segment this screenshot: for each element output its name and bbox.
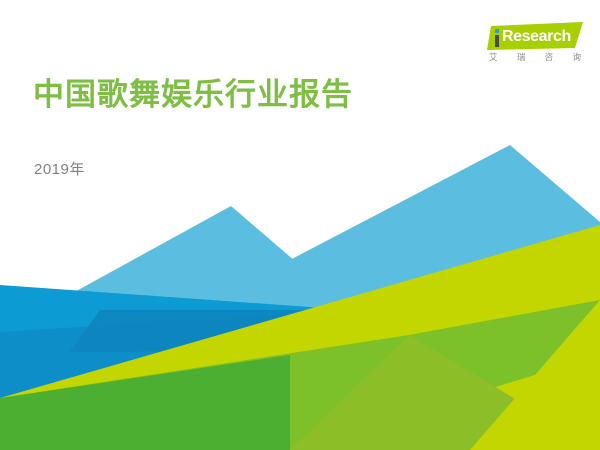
report-cover-slide: Research 艾 瑞 咨 询 中国歌舞娱乐行业报告 2019年 [0,0,600,450]
logo-i-stem-icon [495,35,499,47]
logo-sub-char-3: 咨 [545,53,554,62]
logo-sub-char-2: 瑞 [517,53,526,62]
logo-chinese-subtext: 艾 瑞 咨 询 [489,53,581,62]
page-title: 中国歌舞娱乐行业报告 [33,76,353,115]
logo-brand-name: Research [502,29,571,45]
logo-sub-char-1: 艾 [489,53,498,62]
logo-letter-i [494,26,501,48]
logo-wordmark: Research [487,22,583,52]
logo-sub-char-4: 询 [572,53,581,62]
logo-i-dot-icon [495,29,499,33]
page-subtitle-year: 2019年 [34,160,85,180]
iresearch-logo: Research 艾 瑞 咨 询 [487,22,583,74]
